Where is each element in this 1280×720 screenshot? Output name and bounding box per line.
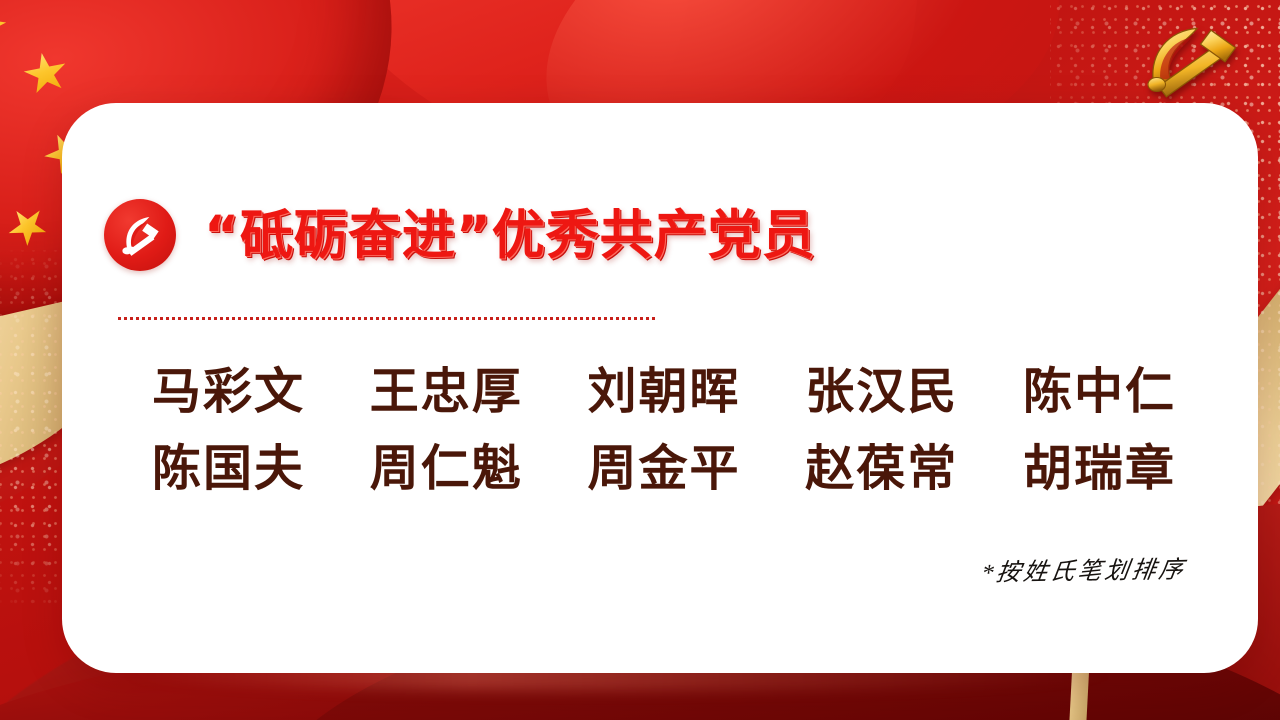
honoree-name: 陈中仁 [1023,361,1176,424]
honoree-name: 王忠厚 [370,361,523,424]
honoree-name: 赵葆常 [805,438,958,501]
honoree-name: 周金平 [587,438,740,501]
honoree-row: 马彩文 王忠厚 刘朝晖 张汉民 陈中仁 [118,361,1208,424]
honoree-list: 马彩文 王忠厚 刘朝晖 张汉民 陈中仁 陈国夫 周仁魁 周金平 赵葆常 胡瑞章 [118,361,1208,514]
dotted-divider [118,317,656,320]
content-card: “砥砺奋进”优秀共产党员 马彩文 王忠厚 刘朝晖 张汉民 陈中仁 陈国夫 周仁魁… [62,103,1258,673]
honoree-name: 周仁魁 [370,438,523,501]
title-row: “砥砺奋进”优秀共产党员 [104,199,816,271]
flag-star-small-4-icon [0,199,55,253]
flag-star-large-icon [0,69,5,218]
hammer-sickle-icon [104,199,176,271]
honoree-name: 马彩文 [152,361,305,424]
slide-root: “砥砺奋进”优秀共产党员 马彩文 王忠厚 刘朝晖 张汉民 陈中仁 陈国夫 周仁魁… [0,0,1280,720]
honoree-name: 刘朝晖 [587,361,740,424]
honoree-name: 胡瑞章 [1023,438,1176,501]
honoree-name: 陈国夫 [152,438,305,501]
honoree-row: 陈国夫 周仁魁 周金平 赵葆常 胡瑞章 [118,438,1208,501]
flag-star-small-2-icon [20,49,71,99]
honoree-name: 张汉民 [805,361,958,424]
party-emblem-gold-icon [1134,18,1246,102]
flag-star-small-1-icon [0,1,9,51]
page-title: “砥砺奋进”优秀共产党员 [204,209,816,262]
sort-note: *按姓氏笔划排序 [979,549,1188,588]
